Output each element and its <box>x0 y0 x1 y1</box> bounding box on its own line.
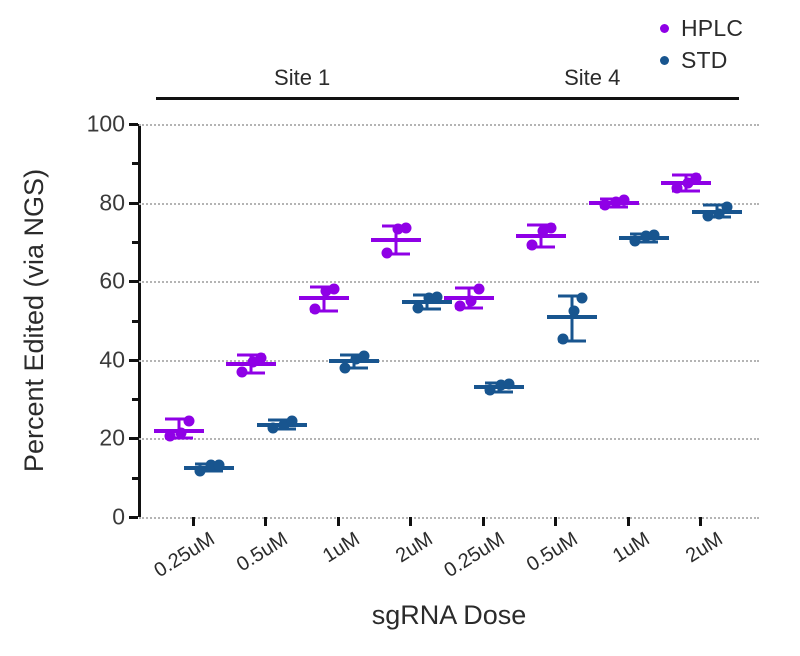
y-tick-label: 0 <box>112 504 125 531</box>
x-tick <box>264 517 267 526</box>
y-tick-label: 20 <box>99 425 125 452</box>
data-point <box>702 210 713 221</box>
data-point <box>504 379 515 390</box>
y-axis-title: Percent Edited (via NGS) <box>14 124 54 517</box>
y-tick-major <box>129 202 138 205</box>
data-point <box>431 291 442 302</box>
y-tick-label: 80 <box>99 189 125 216</box>
gridline <box>139 517 759 519</box>
y-tick-major <box>129 437 138 440</box>
legend-label-hplc: HPLC <box>681 15 743 42</box>
x-axis-title: sgRNA Dose <box>139 600 759 631</box>
data-point <box>649 229 660 240</box>
y-tick-major <box>129 280 138 283</box>
x-tick-label: 1uM <box>319 528 364 568</box>
group-header-rule <box>446 97 739 100</box>
y-tick-major <box>129 359 138 362</box>
x-tick-label: 0.25uM <box>151 528 220 583</box>
data-point <box>546 222 557 233</box>
plot-area: 020406080100 <box>139 124 759 517</box>
y-tick-label: 100 <box>87 111 125 138</box>
data-point <box>473 284 484 295</box>
y-tick-minor <box>132 398 138 401</box>
group-header-site-4: Site 4 <box>446 64 739 100</box>
data-point <box>454 301 465 312</box>
data-point <box>599 200 610 211</box>
y-tick-label: 60 <box>99 268 125 295</box>
data-point <box>214 459 225 470</box>
x-tick <box>192 517 195 526</box>
data-point <box>256 352 267 363</box>
data-point <box>576 293 587 304</box>
data-point <box>286 415 297 426</box>
data-point <box>237 367 248 378</box>
y-tick-label: 40 <box>99 346 125 373</box>
x-tick <box>482 517 485 526</box>
x-tick <box>627 517 630 526</box>
data-point <box>691 173 702 184</box>
data-point <box>309 304 320 315</box>
x-tick-label: 0.25uM <box>441 528 510 583</box>
data-point <box>630 235 641 246</box>
data-point <box>359 350 370 361</box>
x-tick <box>337 517 340 526</box>
data-point <box>485 385 496 396</box>
legend-swatch-hplc <box>660 24 669 33</box>
x-tick-label: 0.5uM <box>233 528 292 577</box>
data-point <box>340 362 351 373</box>
y-tick-minor <box>132 162 138 165</box>
y-axis-line <box>138 124 141 517</box>
gridline <box>139 203 759 205</box>
y-tick-minor <box>132 241 138 244</box>
mean-bar <box>299 296 349 300</box>
data-point <box>412 302 423 313</box>
legend-item-hplc[interactable]: HPLC <box>660 12 790 44</box>
x-tick <box>699 517 702 526</box>
data-point <box>672 183 683 194</box>
x-tick-label: 1uM <box>609 528 654 568</box>
data-point <box>465 295 476 306</box>
data-point <box>267 423 278 434</box>
data-point <box>568 305 579 316</box>
x-tick-label: 0.5uM <box>523 528 582 577</box>
data-point <box>382 247 393 258</box>
data-point <box>183 415 194 426</box>
y-tick-major <box>129 123 138 126</box>
data-point <box>721 201 732 212</box>
data-point <box>618 195 629 206</box>
chart-figure: HPLC STD Site 1 Site 4 020406080100 0.25… <box>0 0 800 656</box>
data-point <box>328 283 339 294</box>
y-tick-major <box>129 516 138 519</box>
x-tick <box>554 517 557 526</box>
data-point <box>164 431 175 442</box>
data-point <box>401 222 412 233</box>
data-point <box>175 428 186 439</box>
data-point <box>557 334 568 345</box>
x-tick-label: 2uM <box>392 528 437 568</box>
y-tick-minor <box>132 477 138 480</box>
y-tick-minor <box>132 320 138 323</box>
group-header-rule <box>156 97 449 100</box>
gridline <box>139 281 759 283</box>
data-point <box>527 240 538 251</box>
x-tick <box>409 517 412 526</box>
group-header-site-1: Site 1 <box>156 64 449 100</box>
data-point <box>195 465 206 476</box>
mean-bar <box>371 238 421 242</box>
gridline <box>139 124 759 126</box>
group-header-label: Site 4 <box>446 64 739 92</box>
group-header-label: Site 1 <box>156 64 449 92</box>
gridline <box>139 438 759 440</box>
x-tick-label: 2uM <box>682 528 727 568</box>
